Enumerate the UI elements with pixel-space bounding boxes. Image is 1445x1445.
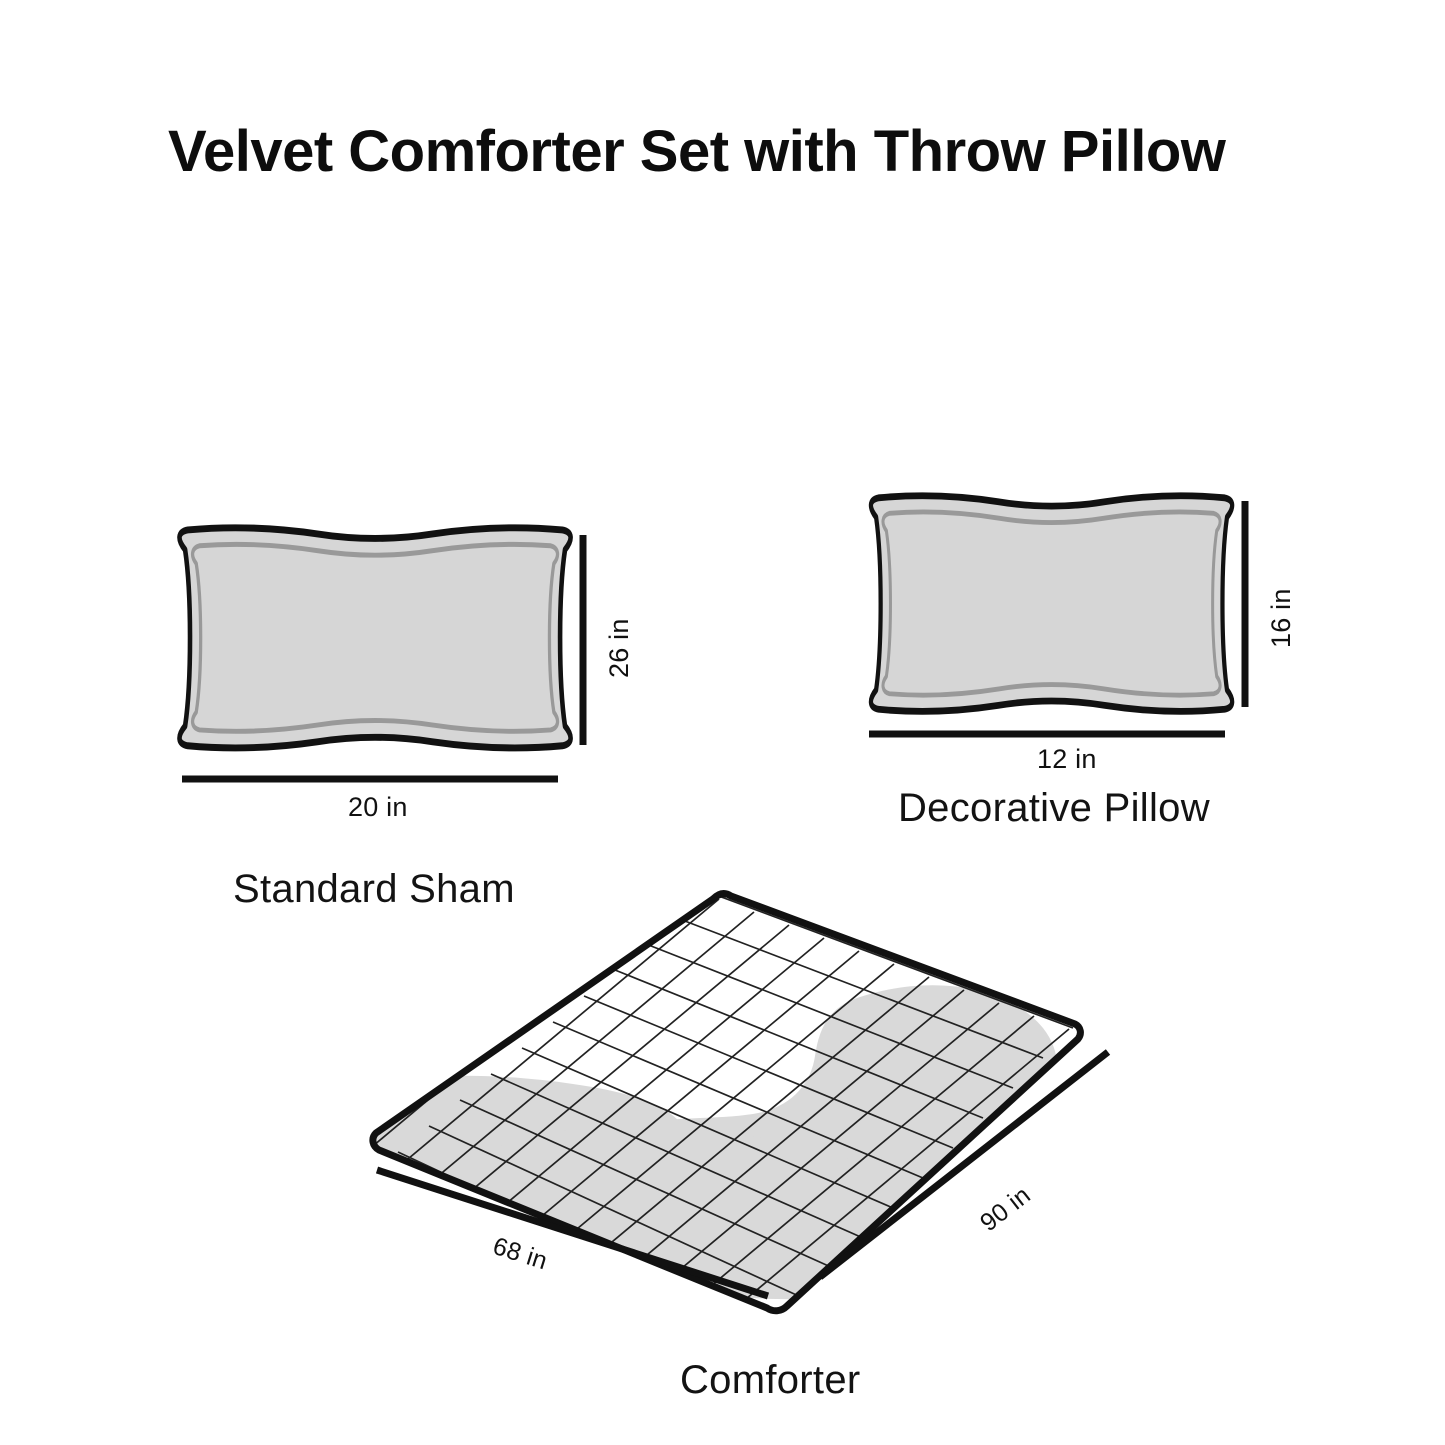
- comforter-caption: Comforter: [680, 1358, 861, 1403]
- sham-caption: Standard Sham: [233, 867, 515, 912]
- product-dimensions-diagram: Velvet Comforter Set with Throw Pillow: [0, 0, 1445, 1445]
- comforter-outline: [373, 894, 1081, 1311]
- pillow-caption: Decorative Pillow: [898, 786, 1210, 831]
- pillow-height-label: 16 in: [1266, 588, 1297, 648]
- comforter-width-label: 68 in: [489, 1232, 550, 1276]
- comforter-quilt-grid: [349, 886, 1104, 1358]
- pillow-width-label: 12 in: [1037, 744, 1097, 775]
- page-title: Velvet Comforter Set with Throw Pillow: [168, 118, 1225, 185]
- comforter-height-dimension-line: [820, 1052, 1108, 1277]
- diagram-canvas: [0, 0, 1445, 1445]
- standard-sham-illustration: [179, 528, 570, 748]
- sham-height-label: 26 in: [604, 618, 635, 678]
- comforter-height-label: 90 in: [975, 1181, 1036, 1238]
- comforter-shading: [367, 985, 1057, 1299]
- comforter-illustration: [349, 886, 1104, 1358]
- decorative-pillow-illustration: [871, 496, 1232, 711]
- sham-width-label: 20 in: [348, 792, 408, 823]
- comforter-width-dimension-line: [377, 1170, 768, 1296]
